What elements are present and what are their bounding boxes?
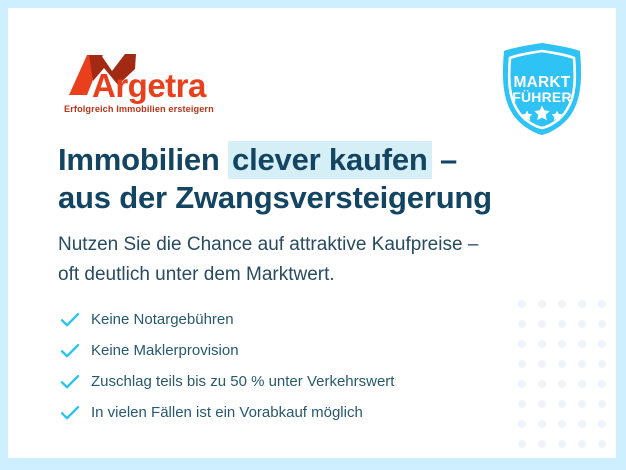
headline-line-2: aus der Zwangsversteigerung (58, 179, 578, 217)
subtitle-line-2: oft deutlich unter dem Marktwert. (58, 260, 578, 290)
svg-text:Argetra: Argetra (92, 67, 207, 104)
page-subtitle: Nutzen Sie die Chance auf attraktive Kau… (58, 230, 578, 290)
headline-highlight: clever kaufen (228, 141, 432, 179)
list-item-label: Zuschlag teils bis zu 50 % unter Verkehr… (86, 373, 394, 390)
check-icon (60, 405, 86, 421)
check-icon (60, 343, 86, 359)
check-icon (60, 374, 86, 390)
argetra-logo-svg: Argetra Erfolgreich Immobilien ersteiger… (63, 51, 223, 117)
list-item: Zuschlag teils bis zu 50 % unter Verkehr… (60, 366, 560, 397)
grid-dot (598, 340, 606, 348)
headline-text-before: Immobilien (58, 142, 228, 177)
grid-dot (538, 440, 546, 448)
list-item: In vielen Fällen ist ein Vorabkauf mögli… (60, 397, 560, 428)
grid-dot (598, 360, 606, 368)
grid-dot (598, 380, 606, 388)
benefits-list: Keine Notargebühren Keine Maklerprovisio… (60, 304, 560, 428)
subtitle-line-1: Nutzen Sie die Chance auf attraktive Kau… (58, 230, 578, 260)
grid-dot (578, 340, 586, 348)
grid-dot (578, 400, 586, 408)
grid-dot (518, 440, 526, 448)
page-title: Immobilien clever kaufen – aus der Zwang… (58, 141, 578, 217)
argetra-logo[interactable]: Argetra Erfolgreich Immobilien ersteiger… (63, 51, 223, 117)
grid-dot (578, 360, 586, 368)
grid-dot (558, 440, 566, 448)
check-icon (60, 312, 86, 328)
svg-text:Erfolgreich Immobilien ersteig: Erfolgreich Immobilien ersteigern (64, 104, 214, 114)
shield-badge-svg: MARKT FÜHRER (494, 41, 590, 137)
page-frame: Argetra Erfolgreich Immobilien ersteiger… (0, 0, 626, 470)
grid-dot (598, 420, 606, 428)
list-item: Keine Maklerprovision (60, 335, 560, 366)
promo-card: Argetra Erfolgreich Immobilien ersteiger… (8, 8, 616, 458)
list-item-label: In vielen Fällen ist ein Vorabkauf mögli… (86, 404, 363, 421)
headline-text-after: – (432, 142, 457, 177)
grid-dot (598, 300, 606, 308)
list-item-label: Keine Notargebühren (86, 311, 234, 328)
grid-dot (578, 420, 586, 428)
grid-dot (578, 440, 586, 448)
grid-dot (578, 380, 586, 388)
badge-line2: FÜHRER (512, 89, 572, 105)
list-item: Keine Notargebühren (60, 304, 560, 335)
grid-dot (598, 440, 606, 448)
grid-dot (598, 320, 606, 328)
grid-dot (578, 320, 586, 328)
headline-line-1: Immobilien clever kaufen – (58, 141, 578, 179)
markt-fuehrer-badge: MARKT FÜHRER (494, 41, 590, 137)
grid-dot (578, 300, 586, 308)
list-item-label: Keine Maklerprovision (86, 342, 239, 359)
grid-dot (598, 400, 606, 408)
